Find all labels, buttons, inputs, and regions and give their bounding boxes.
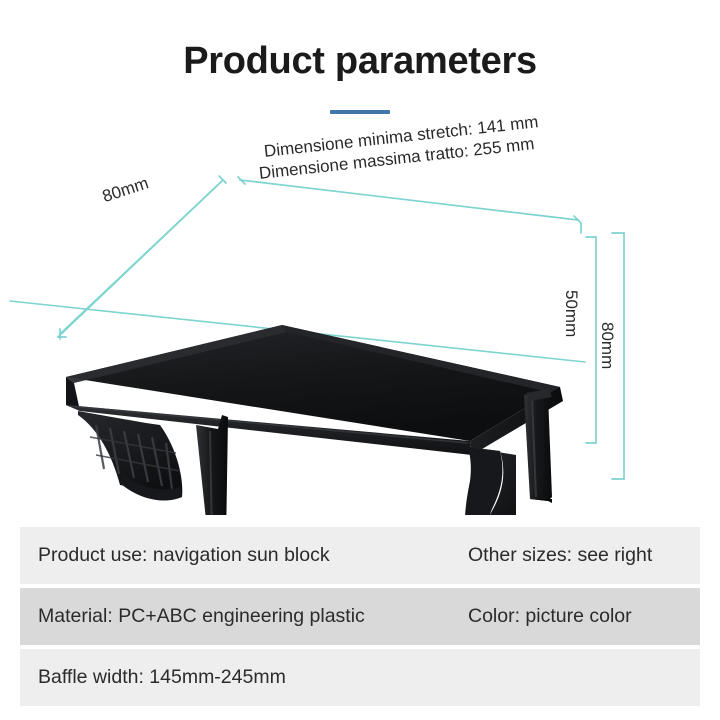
spec-other-sizes: Other sizes: see right xyxy=(468,544,652,567)
specifications-table: Product use: navigation sun block Other … xyxy=(20,527,700,710)
product-parameters-page: Product parameters xyxy=(0,0,720,720)
spec-material: Material: PC+ABC engineering plastic xyxy=(38,605,468,628)
left-bracket xyxy=(78,411,182,501)
dimension-label-outer-height: 80mm xyxy=(597,322,617,369)
right-bracket xyxy=(465,447,516,515)
table-row: Product use: navigation sun block Other … xyxy=(20,527,700,584)
table-row: Material: PC+ABC engineering plastic Col… xyxy=(20,588,700,645)
table-row: Baffle width: 145mm-245mm xyxy=(20,649,700,706)
page-title: Product parameters xyxy=(0,40,720,83)
spec-product-use: Product use: navigation sun block xyxy=(38,544,468,567)
right-leg xyxy=(524,389,552,503)
spec-color: Color: picture color xyxy=(468,605,632,628)
product-diagram xyxy=(0,125,720,515)
spec-baffle-width: Baffle width: 145mm-245mm xyxy=(38,666,468,689)
title-accent-bar xyxy=(330,110,390,114)
dimension-label-inner-height: 50mm xyxy=(561,290,581,337)
left-leg xyxy=(196,415,228,515)
